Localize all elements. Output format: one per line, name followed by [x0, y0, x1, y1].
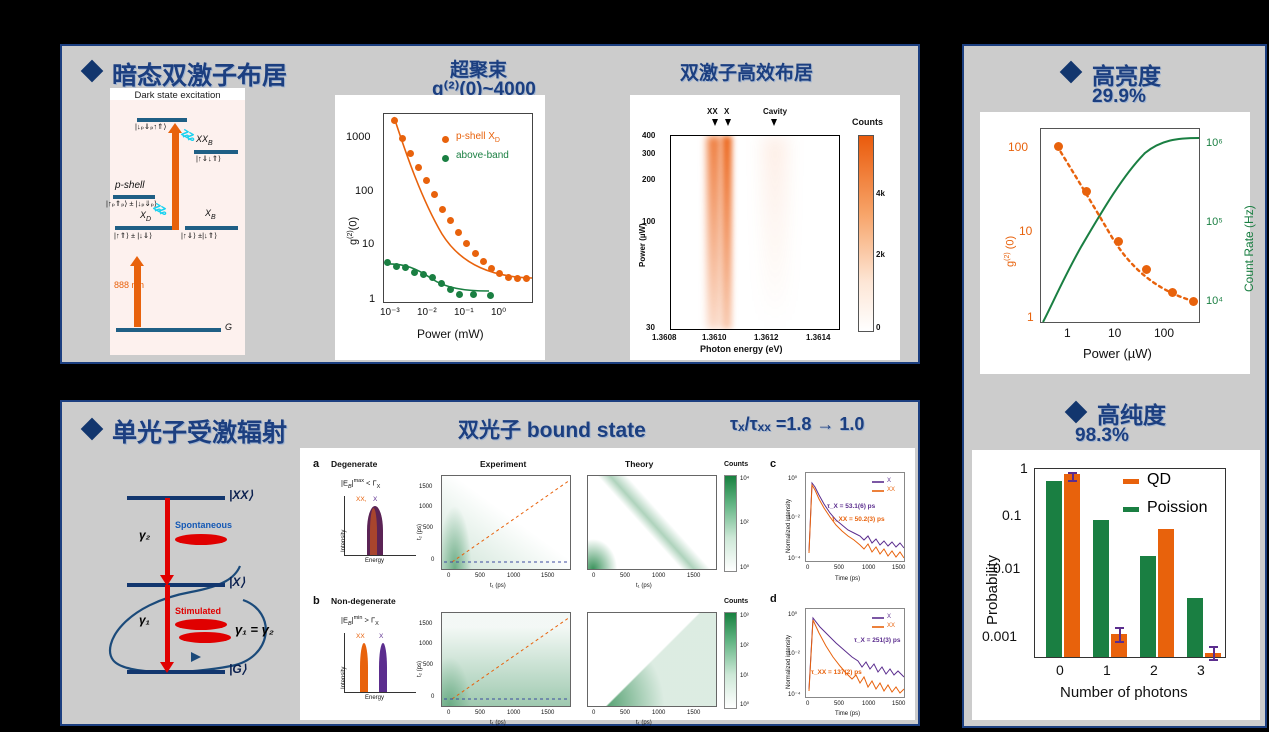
label-gamma-relation: γ₁ = γ₂	[235, 622, 274, 637]
legend-marker-qd	[1123, 479, 1139, 484]
photon-wavepacket-stimulated-2	[179, 632, 231, 643]
decay-ylabel-d: Normalized intensity	[786, 635, 792, 689]
arrow-down-icon-cavity	[771, 119, 777, 126]
bar-poission-1	[1093, 520, 1109, 657]
level-xb	[185, 226, 238, 230]
xtick: 1500	[541, 710, 554, 716]
heading-single-photon-stimulated-emission: 单光子受激辐射	[112, 413, 287, 449]
xtick: 1500	[687, 573, 700, 579]
label-xd: XD	[140, 210, 151, 223]
label-g-state: |G⟩	[229, 662, 246, 676]
decay-xlabel-d: Time (ps)	[835, 711, 860, 717]
xtick: 100	[1154, 326, 1174, 340]
colorbar-title-a: Counts	[724, 461, 748, 468]
spectrum-ylabel: Intensity	[341, 667, 347, 689]
peak-label-xx: XX,	[356, 496, 366, 503]
data-point	[488, 265, 495, 272]
level-x	[127, 583, 225, 587]
row-title-non-degenerate: Non-degenerate	[331, 596, 396, 606]
label-spontaneous: Spontaneous	[175, 520, 232, 530]
colorbar-title-b: Counts	[724, 598, 748, 605]
data-point	[447, 286, 454, 293]
panel-tag-d: d	[770, 593, 777, 605]
ytick: 1500	[419, 621, 432, 627]
panel-tag-c: c	[770, 458, 776, 470]
level-upper-ket: |↓ₚ⇓ₚ↑⇑⟩	[135, 122, 166, 131]
pump-arrow-upper	[172, 132, 179, 230]
data-point	[1114, 237, 1123, 246]
spectrum-x-axis	[344, 555, 416, 556]
panel-tag-a: a	[313, 458, 319, 470]
data-point	[480, 258, 487, 265]
data-point	[470, 291, 477, 298]
ytick: 200	[642, 175, 655, 184]
label-gamma2: γ₂	[139, 528, 150, 542]
colorbar-tick: 10²	[740, 643, 749, 649]
data-point	[415, 164, 422, 171]
ytick: 500	[423, 525, 433, 531]
ytick-right: 10⁵	[1206, 216, 1223, 228]
colorbar-tick: 2k	[876, 250, 885, 259]
xtick: 10⁻³	[380, 307, 400, 318]
annotation-tau-x-d: τ_X = 251(3) ps	[854, 637, 900, 644]
bar-poission-3	[1187, 598, 1203, 657]
ytick: 0.001	[982, 628, 1017, 644]
x-axis-label: Power (mW)	[417, 327, 484, 341]
g2-plot-frame: p-shell XD above-band	[383, 113, 533, 303]
ytick: 500	[423, 662, 433, 668]
heatmap-plot-frame	[670, 135, 840, 330]
ytick: 100	[355, 185, 373, 197]
xtick: 1000	[862, 701, 875, 707]
xtick: 1000	[652, 573, 665, 579]
xtick: 500	[620, 573, 630, 579]
label-tau-ratio: τₓ/τₓₓ =1.8 → 1.0	[730, 414, 864, 435]
data-point	[411, 269, 418, 276]
bar-poission-0	[1046, 481, 1062, 657]
xtick: 10⁰	[491, 307, 506, 318]
ytick: 0	[431, 694, 434, 700]
xtick: 3	[1197, 662, 1205, 678]
level-xxb-ket: |↑⇓↓⇑⟩	[196, 154, 221, 163]
xtick: 1000	[507, 710, 520, 716]
panel-tag-b: b	[313, 595, 320, 607]
heading-dark-state-population: 暗态双激子布居	[112, 56, 287, 92]
map-xlabel-theory-b: t₁ (ps)	[636, 720, 652, 726]
peak-label-x: X	[373, 496, 377, 503]
xtick: 1500	[892, 565, 905, 571]
arrow-down-icon-x	[725, 119, 731, 126]
ytick: 10⁰	[788, 475, 797, 482]
feedback-loop-icon	[95, 480, 285, 695]
stimulated-emission-scheme: |XX⟩ |X⟩ |G⟩ γ₂ γ₁ Spontaneous Stimulate…	[95, 480, 285, 695]
ytick: 30	[646, 323, 655, 332]
pump-wavelength-label: 888 nm	[114, 280, 144, 290]
peak-label-x: X	[379, 633, 383, 640]
legend-marker-poission	[1123, 507, 1139, 512]
spectrum-x-axis	[344, 692, 416, 693]
xtick: 1	[1103, 662, 1111, 678]
spectrum-ylabel: Intensity	[341, 530, 347, 552]
data-point	[505, 274, 512, 281]
legend-marker-above-band	[442, 155, 449, 162]
ytick: 300	[642, 149, 655, 158]
legend-label-x-c: X	[887, 478, 891, 484]
data-point	[463, 240, 470, 247]
heading-two-photon-bound-state: 双光子 bound state	[458, 414, 646, 444]
map-title-experiment: Experiment	[480, 459, 526, 469]
xtick: 1.3612	[754, 333, 778, 342]
ytick-left: 1	[1027, 310, 1034, 324]
colorbar-tick: 10⁰	[740, 701, 749, 708]
brightness-plot-frame	[1040, 128, 1200, 323]
data-point	[447, 217, 454, 224]
xtick: 1500	[687, 710, 700, 716]
figure-two-photon-bound-state: a Degenerate |EB|max < ΓX XX, X Intensit…	[300, 448, 915, 720]
decay-plot-d: X XX τ_X = 251(3) ps τ_XX = 137(2) ps	[805, 608, 905, 698]
xtick: 0	[806, 565, 809, 571]
data-point	[514, 275, 521, 282]
map-title-theory: Theory	[625, 459, 653, 469]
value-purity: 98.3%	[1075, 425, 1129, 447]
colorbar-tick: 10¹	[740, 673, 749, 679]
chart-g2-vs-power: p-shell XD above-band 1000 100 10 1 g(2)…	[335, 95, 545, 360]
map-theory-b	[587, 612, 717, 707]
decay-arrow-gamma2	[165, 498, 170, 576]
label-x-state: |X⟩	[229, 575, 245, 589]
xtick: 10	[1108, 326, 1121, 340]
annotation-cavity: Cavity	[763, 107, 787, 116]
label-ground: G	[225, 322, 232, 332]
data-point	[391, 117, 398, 124]
data-point	[456, 291, 463, 298]
chart-power-photon-energy-map: XX X Cavity Counts 4k 2k 0 400 300 200 1…	[630, 95, 900, 360]
level-xb-ket: |↑⇓⟩ ±|↓⇑⟩	[181, 231, 217, 240]
brightness-curves	[1041, 129, 1201, 324]
ytick-left: 10	[1019, 224, 1032, 238]
xtick: 1.3610	[702, 333, 726, 342]
ytick: 0	[431, 557, 434, 563]
ytick: 10⁻⁴	[788, 555, 800, 562]
error-bar	[1068, 472, 1077, 482]
xtick: 500	[834, 565, 844, 571]
map-theory-density-b	[588, 613, 716, 706]
chart-brightness: 100 10 1 g(2) (0) 10⁶ 10⁵ 10⁴ Count Rate…	[980, 112, 1250, 374]
xtick: 1500	[541, 573, 554, 579]
xtick: 1000	[507, 573, 520, 579]
condition-degenerate: |EB|max < ΓX	[341, 478, 380, 490]
legend-marker-p-shell	[442, 136, 449, 143]
map-xlabel-theory-a: t₁ (ps)	[636, 583, 652, 589]
level-g	[127, 670, 225, 674]
ytick: 1000	[419, 641, 432, 647]
data-point	[402, 264, 409, 271]
xtick: 1000	[862, 565, 875, 571]
level-p-shell-ket: |↑ₚ⇑ₚ⟩ ± |↓ₚ⇓ₚ⟩	[106, 199, 157, 208]
data-point	[393, 263, 400, 270]
ytick: 400	[642, 131, 655, 140]
xtick: 500	[475, 710, 485, 716]
level-xx	[127, 496, 225, 500]
ytick: 1000	[419, 504, 432, 510]
data-point	[455, 229, 462, 236]
x-axis-label: Number of photons	[1060, 684, 1188, 701]
data-point	[496, 270, 503, 277]
label-xb: XB	[205, 208, 216, 221]
ytick: 10	[362, 238, 374, 250]
x-axis-label: Photon energy (eV)	[700, 344, 783, 354]
ytick: 1	[369, 293, 375, 305]
photon-wavepacket-spontaneous	[175, 534, 227, 545]
value-brightness: 29.9%	[1092, 86, 1146, 108]
colorbar-tick: 0	[876, 323, 880, 332]
level-ground	[116, 328, 221, 332]
peak-xx-degenerate	[370, 508, 377, 555]
xtick: 0	[806, 701, 809, 707]
colorbar-title: Counts	[852, 117, 883, 127]
xtick: 2	[1150, 662, 1158, 678]
xtick: 0	[592, 573, 595, 579]
data-point	[1168, 288, 1177, 297]
spectrum-xlabel: Energy	[365, 695, 384, 701]
error-bar	[1209, 646, 1218, 661]
legend-label-above-band: above-band	[456, 150, 509, 161]
bar-poission-2	[1140, 556, 1156, 657]
heat-band-xx	[707, 136, 721, 329]
peak-x	[379, 643, 387, 692]
pump-arrow-lower	[134, 265, 141, 327]
colorbar	[858, 135, 874, 332]
xtick: 500	[834, 701, 844, 707]
y-axis-label-left: g(2) (0)	[1004, 236, 1017, 267]
ytick: 0.1	[1002, 507, 1021, 523]
ytick-left: 100	[1008, 140, 1028, 154]
y-axis-label: Power (µW)	[638, 223, 647, 267]
ytick-right: 10⁴	[1206, 295, 1223, 307]
decay-ylabel-c: Normalized intensity	[786, 499, 792, 553]
map-theory-density	[588, 476, 716, 569]
chart-photon-number-distribution: QD Poission 1 0.1 0.01 0.001 Probability…	[972, 450, 1260, 720]
xtick: 1.3614	[806, 333, 830, 342]
row-title-degenerate: Degenerate	[331, 459, 377, 469]
energy-level-diagram: |↓ₚ⇓ₚ↑⇑⟩ ʑʑ XXB |↑⇓↓⇑⟩ p-shell |↑ₚ⇑ₚ⟩ ± …	[110, 100, 245, 355]
label-gamma1: γ₁	[139, 613, 150, 627]
map-ylabel-a: t₂ (ps)	[417, 524, 423, 540]
colorbar-tick: 10⁰	[740, 564, 749, 571]
decay-xlabel-c: Time (ps)	[835, 576, 860, 582]
xtick: 10⁻²	[417, 307, 437, 318]
colorbar-a	[724, 475, 737, 572]
annotation-tau-xx-d: τ_XX = 137(2) ps	[811, 669, 862, 676]
data-point	[384, 259, 391, 266]
data-point	[423, 177, 430, 184]
legend-label-x-d: X	[887, 614, 891, 620]
data-point	[399, 135, 406, 142]
xtick: 1000	[652, 710, 665, 716]
label-xxb: XXB	[196, 134, 213, 147]
map-ylabel-b: t₂ (ps)	[417, 661, 423, 677]
annotation-tau-x-c: τ_X = 53.1(6) ps	[827, 503, 875, 510]
xtick: 0	[447, 573, 450, 579]
error-bar	[1115, 627, 1124, 643]
data-point	[1082, 187, 1091, 196]
y-axis-label: Probability	[984, 555, 1001, 625]
level-xd	[115, 226, 177, 230]
heading-biexciton-population: 双激子高效布居	[680, 58, 813, 85]
spectrum-xlabel: Energy	[365, 558, 384, 564]
ytick: 1000	[346, 131, 370, 143]
data-point	[431, 191, 438, 198]
map-xlabel-a: t₁ (ps)	[490, 583, 506, 589]
decay-plot-c: X XX τ_X = 53.1(6) ps τ_XX = 50.2(3) ps	[805, 472, 905, 562]
condition-non-degenerate: |EB|min > ΓX	[341, 615, 379, 627]
peak-label-xx: XX	[356, 633, 365, 640]
xtick: 1	[1064, 326, 1071, 340]
xtick: 0	[592, 710, 595, 716]
photon-wavepacket-stimulated-1	[175, 619, 227, 630]
colorbar-tick: 10³	[740, 613, 749, 619]
label-p-shell: p-shell	[115, 180, 144, 191]
spectrum-degenerate: XX, X Intensity Energy	[334, 494, 420, 564]
annotation-tau-xx-c: τ_XX = 50.2(3) ps	[832, 516, 885, 523]
map-xlabel-b: t₁ (ps)	[490, 720, 506, 726]
purity-plot-frame: QD Poission	[1034, 468, 1226, 658]
map-experiment-a	[441, 475, 571, 570]
peak-xx	[360, 643, 368, 692]
legend-label-poission: Poission	[1147, 499, 1207, 517]
arrow-down-icon-xx	[712, 119, 718, 126]
legend-label-p-shell: p-shell XD	[456, 131, 500, 144]
data-point	[429, 274, 436, 281]
map-experiment-b	[441, 612, 571, 707]
data-point	[1189, 297, 1198, 306]
data-point	[438, 280, 445, 287]
xtick: 1500	[892, 701, 905, 707]
map-theory-a	[587, 475, 717, 570]
ytick: 1500	[419, 484, 432, 490]
data-point	[439, 206, 446, 213]
y-axis-label-right: Count Rate (Hz)	[1242, 205, 1256, 292]
bar-qd-0	[1064, 474, 1080, 657]
heat-band-x	[722, 136, 732, 329]
x-axis-label: Power (µW)	[1083, 346, 1152, 361]
colorbar-b	[724, 612, 737, 709]
colorbar-tick: 10²	[740, 520, 749, 526]
legend-label-qd: QD	[1147, 471, 1171, 489]
annotation-xx: XX	[707, 107, 718, 116]
ytick: 10⁰	[788, 611, 797, 618]
ytick: 1	[1020, 460, 1028, 476]
legend-label-xx-c: XX	[887, 487, 895, 493]
xtick: 500	[620, 710, 630, 716]
label-stimulated: Stimulated	[175, 606, 221, 616]
bar-qd-2	[1158, 529, 1174, 657]
xtick: 500	[475, 573, 485, 579]
ytick-right: 10⁶	[1206, 137, 1223, 149]
level-xd-ket: |↑⇑⟩ ± |↓⇓⟩	[114, 231, 152, 240]
label-xx-state: |XX⟩	[229, 488, 253, 502]
data-point	[420, 271, 427, 278]
ytick: 10⁻⁴	[788, 691, 800, 698]
xtick: 10⁻¹	[454, 307, 474, 318]
data-point	[523, 275, 530, 282]
xtick: 0	[447, 710, 450, 716]
data-point	[1054, 142, 1063, 151]
annotation-x: X	[724, 107, 729, 116]
data-point	[472, 250, 479, 257]
colorbar-tick: 10⁴	[740, 476, 749, 482]
legend-label-xx-d: XX	[887, 623, 895, 629]
colorbar-tick: 4k	[876, 189, 885, 198]
y-axis-label: g(2)(0)	[347, 217, 360, 245]
data-point	[487, 292, 494, 299]
spectrum-non-degenerate: XX X Intensity Energy	[334, 631, 420, 701]
data-point	[1142, 265, 1151, 274]
heat-band-cavity	[764, 136, 786, 329]
decay-arrow-gamma1	[165, 585, 170, 663]
xtick: 0	[1056, 662, 1064, 678]
xtick: 1.3608	[652, 333, 676, 342]
data-point	[407, 150, 414, 157]
